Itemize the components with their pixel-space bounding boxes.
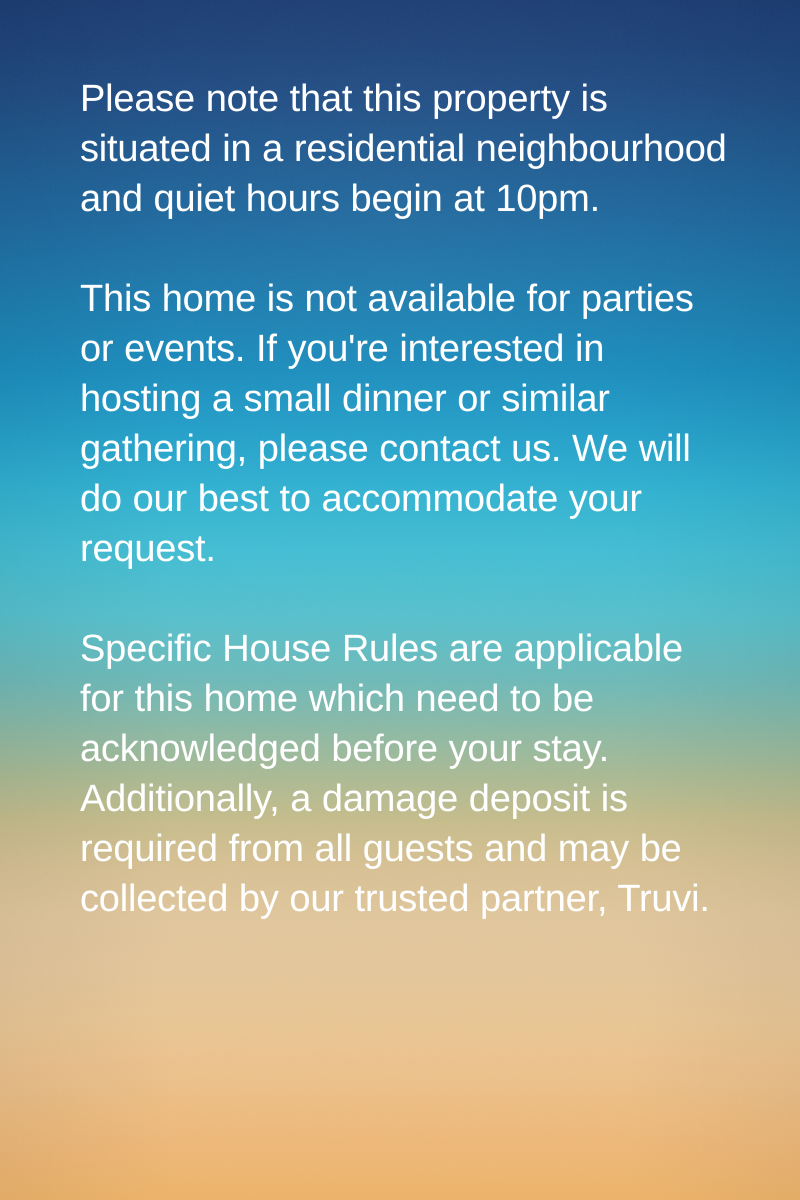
rule-paragraph-quiet-hours: Please note that this property is situat… [80, 74, 728, 224]
rule-paragraph-no-parties: This home is not available for parties o… [80, 274, 728, 574]
rule-paragraph-specific-house-rules: Specific House Rules are applicable for … [80, 624, 728, 924]
house-rules-text-block: Please note that this property is situat… [80, 0, 728, 924]
house-rules-notice-card: Please note that this property is situat… [0, 0, 800, 1200]
